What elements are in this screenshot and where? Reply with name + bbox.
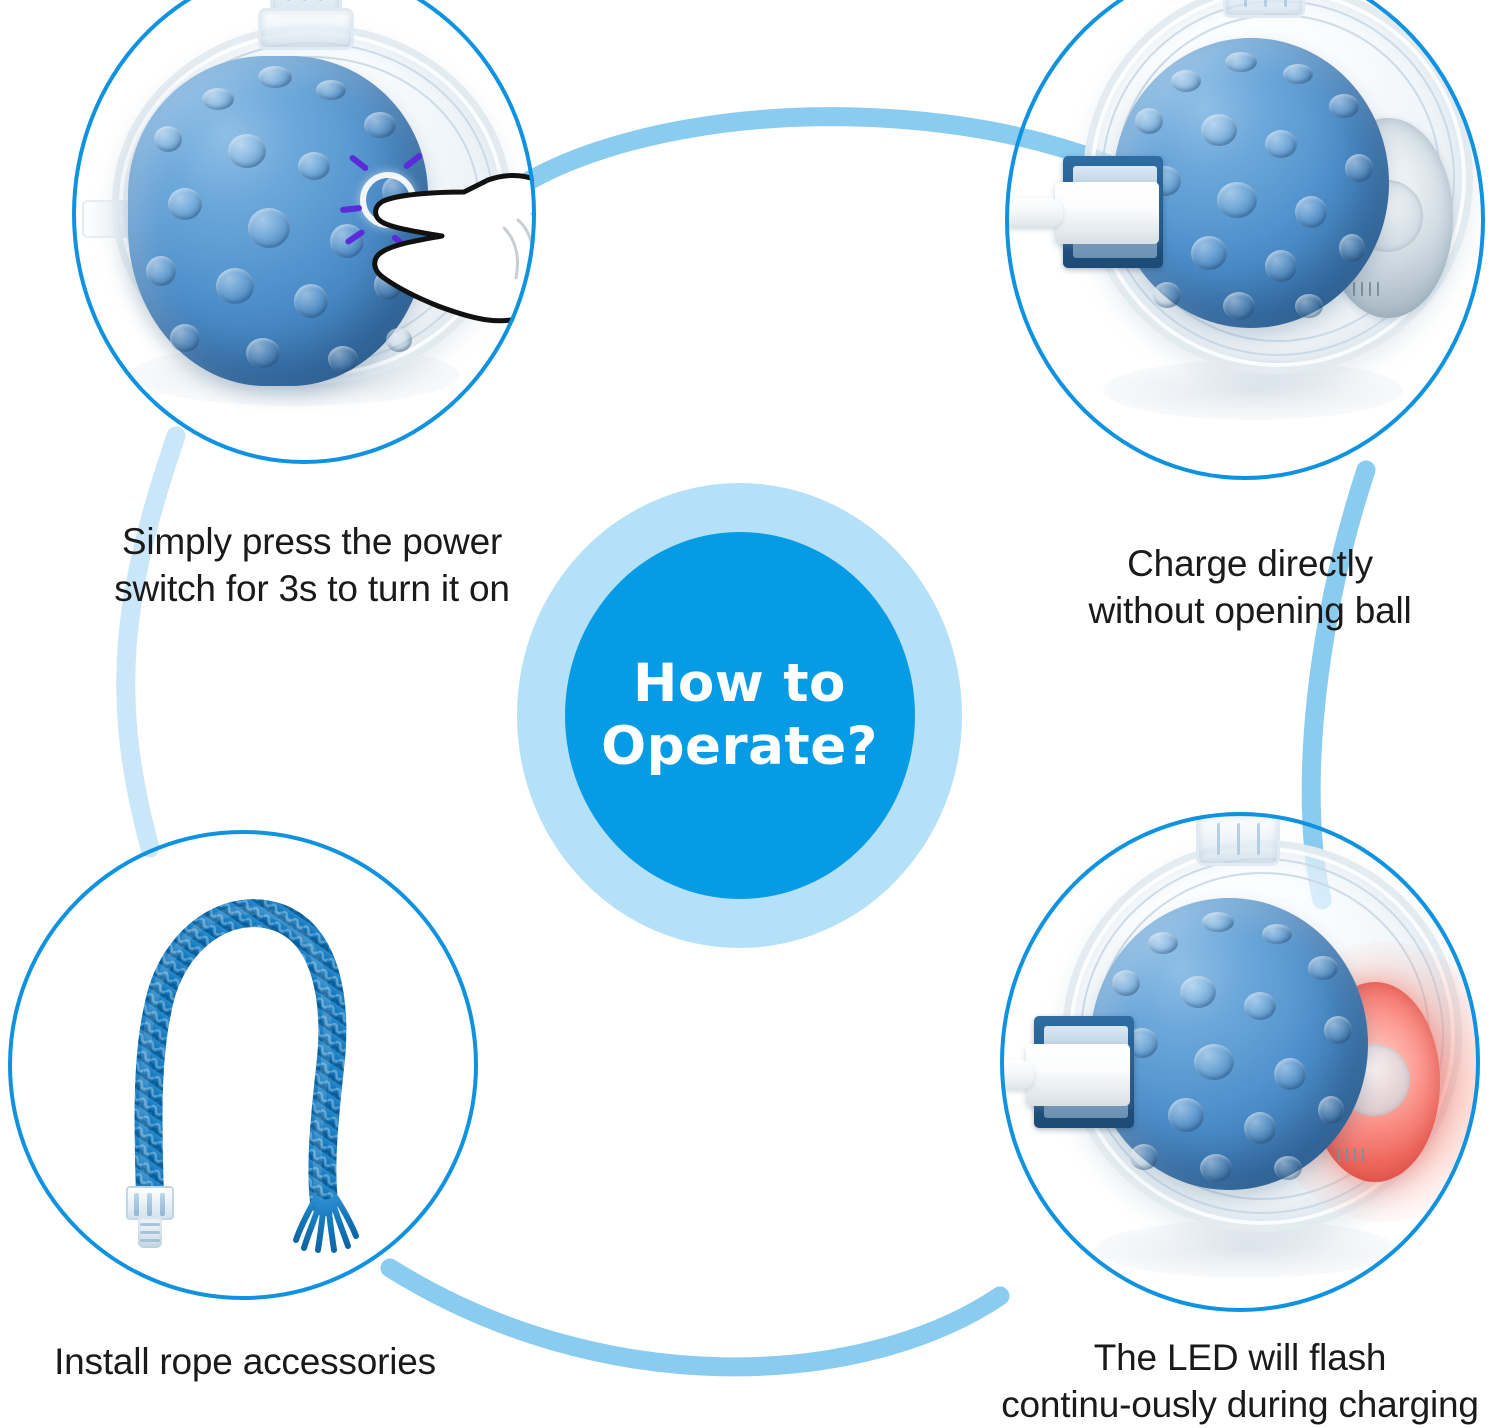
hanger-rib [303, 0, 306, 1]
hanger-rib [1264, 0, 1267, 7]
hanger-rib [1257, 823, 1260, 855]
caption-top-left: Simply press the power switch for 3s to … [92, 518, 532, 613]
panel-bottom-right-artwork [1000, 812, 1480, 1312]
panel-top-left [72, 0, 536, 464]
hanger-collar [258, 8, 354, 50]
panel-bottom-left-artwork [8, 830, 478, 1300]
hanger-rib [287, 0, 290, 1]
panel-bottom-left [8, 830, 478, 1300]
panel-top-right [1005, 0, 1485, 480]
usb-cable [1000, 1060, 1034, 1090]
usb-plug-icon [1055, 182, 1159, 244]
hanger-rib [1237, 823, 1240, 855]
screw-connector-icon [126, 1186, 174, 1220]
how-to-operate-infographic: How to Operate? Simply press the power s… [0, 0, 1500, 1428]
hanger-stem [1196, 814, 1280, 866]
hanger-rib [1244, 0, 1247, 7]
caption-bottom-left: Install rope accessories [10, 1338, 480, 1385]
arc-bottom [390, 1268, 1000, 1367]
center-badge: How to Operate? [517, 483, 962, 948]
hand-pointing-icon [368, 162, 536, 342]
hanger-rib [319, 0, 322, 1]
hanger-stem [1223, 0, 1305, 18]
caption-top-right: Charge directly without opening ball [1040, 540, 1460, 635]
panel-top-left-artwork [72, 0, 536, 464]
hanger-rib [1217, 823, 1220, 855]
arc-left [126, 436, 176, 848]
hanger-rib [1284, 0, 1287, 7]
panel-bottom-right [1000, 812, 1480, 1312]
panel-top-right-artwork [1005, 0, 1485, 480]
caption-bottom-right: The LED will flash continu-ously during … [980, 1334, 1500, 1428]
usb-plug-icon [1026, 1044, 1130, 1106]
center-badge-inner: How to Operate? [565, 532, 915, 899]
screw-thread [138, 1218, 162, 1248]
page-title: How to Operate? [601, 653, 878, 778]
usb-cable [1005, 198, 1063, 228]
rope-icon [8, 830, 478, 1300]
